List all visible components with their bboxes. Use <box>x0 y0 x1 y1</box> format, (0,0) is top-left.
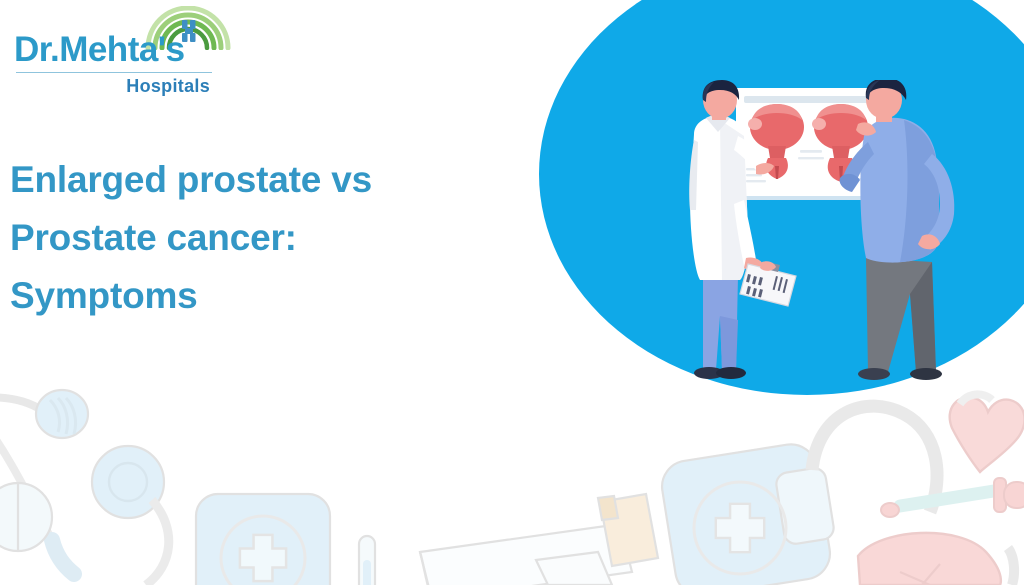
heart-icon <box>950 397 1024 472</box>
bandage-roll-icon <box>420 524 632 585</box>
page-title-line-2: Prostate cancer: <box>10 209 480 267</box>
heart-icon <box>858 533 1001 585</box>
medicine-bottle-icon <box>598 494 658 566</box>
stethoscope-icon <box>812 406 937 512</box>
brand-logo[interactable]: Dr.Mehta's Hospitals <box>14 6 224 98</box>
page-title-line-1: Enlarged prostate vs <box>10 151 480 209</box>
clipboard-icon <box>740 261 796 306</box>
stethoscope-icon <box>92 446 169 585</box>
doctor-and-patient-illustration <box>660 80 1000 392</box>
logo-divider <box>16 72 212 73</box>
page-title-line-3: Symptoms <box>10 267 480 325</box>
health-article-banner: Dr.Mehta's Hospitals Enlarged prostate v… <box>0 0 1024 585</box>
dropper-icon <box>881 478 1024 517</box>
medicine-bottle-icon <box>536 552 612 585</box>
syringe-icon <box>1008 548 1014 585</box>
first-aid-kit-icon <box>658 441 835 585</box>
logo-wordmark: Dr.Mehta's <box>14 30 214 70</box>
stethoscope-icon <box>0 390 88 574</box>
logo-subtitle: Hospitals <box>14 76 210 97</box>
page-title: Enlarged prostate vs Prostate cancer: Sy… <box>10 151 480 325</box>
first-aid-kit-icon <box>196 494 330 585</box>
cross-icon <box>960 394 992 404</box>
pill-icon <box>0 483 52 551</box>
thermometer-icon <box>359 536 375 585</box>
